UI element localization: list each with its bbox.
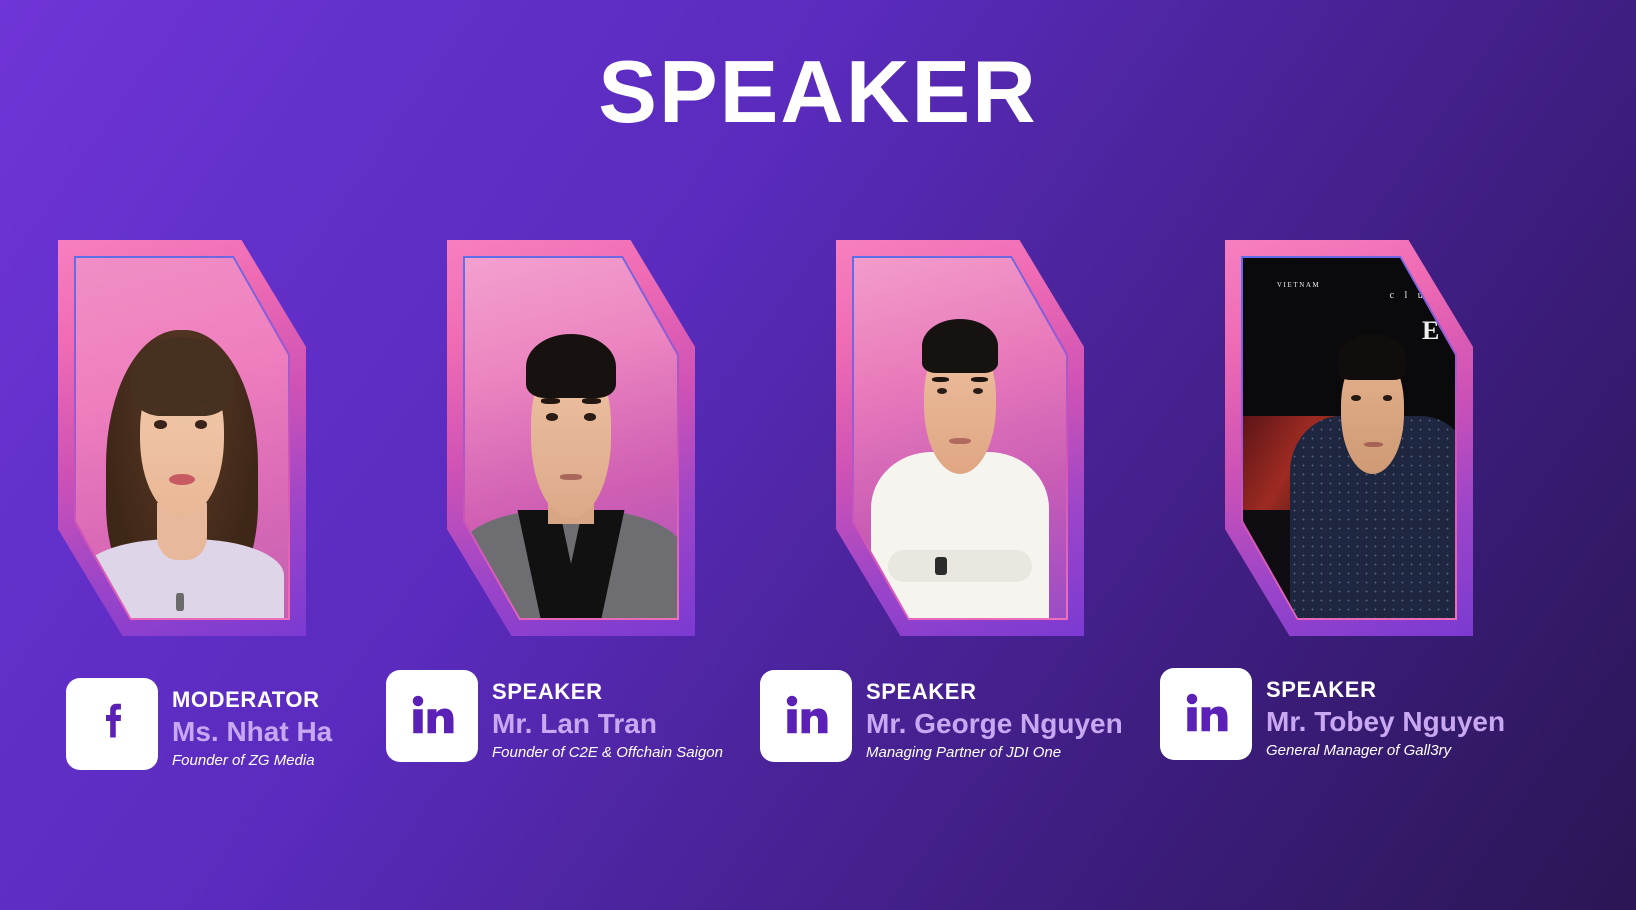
caption-text-block: SPEAKER Mr. George Nguyen Managing Partn… (866, 670, 1123, 763)
speaker-photo-row: VIETNAM c l u b E (0, 240, 1636, 636)
page-title: SPEAKER (0, 48, 1636, 136)
eyebrow-left (152, 406, 169, 411)
photo-figure (854, 258, 1066, 618)
mouth-shape (560, 474, 581, 480)
speaker-role: SPEAKER (1266, 678, 1505, 702)
wristwatch-shape (935, 557, 948, 575)
eye-left (154, 420, 167, 429)
photo-figure (76, 258, 288, 618)
facebook-icon[interactable] (66, 678, 158, 770)
title-area: SPEAKER (0, 48, 1636, 136)
mouth-shape (1364, 442, 1383, 448)
fringe-shape (131, 337, 233, 416)
eye-right (584, 413, 597, 421)
speaker-title: Managing Partner of JDI One (866, 743, 1123, 763)
speaker-role: MODERATOR (172, 688, 332, 712)
speaker-title: General Manager of Gall3ry (1266, 741, 1505, 761)
speaker-name: Mr. George Nguyen (866, 706, 1123, 741)
mouth-shape (949, 438, 970, 444)
caption-text-block: MODERATOR Ms. Nhat Ha Founder of ZG Medi… (172, 678, 332, 771)
photo-figure: VIETNAM c l u b E (1243, 258, 1455, 618)
hair-shape (1338, 334, 1406, 381)
eyebrow-right (582, 398, 601, 404)
speaker-photo-1 (465, 258, 677, 618)
speaker-name: Ms. Nhat Ha (172, 714, 332, 749)
backdrop-country-text: VIETNAM (1277, 281, 1320, 289)
eye-left (546, 413, 559, 421)
speaker-name: Mr. Tobey Nguyen (1266, 704, 1505, 739)
hair-shape (526, 334, 615, 399)
speaker-card-2[interactable] (818, 240, 1207, 636)
eyebrow-left (541, 398, 560, 404)
speaker-caption-1: SPEAKER Mr. Lan Tran Founder of C2E & Of… (386, 670, 723, 763)
eyebrow-left (932, 377, 949, 382)
caption-text-block: SPEAKER Mr. Lan Tran Founder of C2E & Of… (492, 670, 723, 763)
crossed-arms-shape (888, 550, 1032, 582)
speaker-caption-2: SPEAKER Mr. George Nguyen Managing Partn… (760, 670, 1123, 763)
speaker-photo-0 (76, 258, 288, 618)
eye-left (1351, 395, 1361, 401)
eyebrow-right (971, 377, 988, 382)
eye-right (195, 420, 208, 429)
photo-figure (465, 258, 677, 618)
torso-shape (871, 452, 1049, 618)
photo-frame-0 (58, 240, 306, 636)
hair-shape (922, 319, 998, 373)
speaker-card-0[interactable] (40, 240, 429, 636)
speaker-photo-3: VIETNAM c l u b E (1243, 258, 1455, 618)
necklace-pendant (176, 593, 184, 611)
linkedin-icon[interactable] (760, 670, 852, 762)
photo-frame-1 (447, 240, 695, 636)
caption-text-block: SPEAKER Mr. Tobey Nguyen General Manager… (1266, 668, 1505, 761)
linkedin-icon[interactable] (1160, 668, 1252, 760)
speaker-name: Mr. Lan Tran (492, 706, 723, 741)
speaker-title: Founder of C2E & Offchain Saigon (492, 743, 723, 763)
speaker-title: Founder of ZG Media (172, 751, 332, 771)
photo-frame-2 (836, 240, 1084, 636)
linkedin-icon[interactable] (386, 670, 478, 762)
speaker-role: SPEAKER (492, 680, 723, 704)
mouth-shape (169, 474, 194, 485)
speaker-photo-2 (854, 258, 1066, 618)
speaker-card-3[interactable]: VIETNAM c l u b E (1207, 240, 1596, 636)
speaker-role: SPEAKER (866, 680, 1123, 704)
speaker-caption-0: MODERATOR Ms. Nhat Ha Founder of ZG Medi… (66, 678, 332, 771)
photo-frame-3: VIETNAM c l u b E (1225, 240, 1473, 636)
speaker-caption-3: SPEAKER Mr. Tobey Nguyen General Manager… (1160, 668, 1505, 761)
eye-right (1383, 395, 1393, 401)
speaker-card-1[interactable] (429, 240, 818, 636)
eyebrow-right (193, 406, 210, 411)
